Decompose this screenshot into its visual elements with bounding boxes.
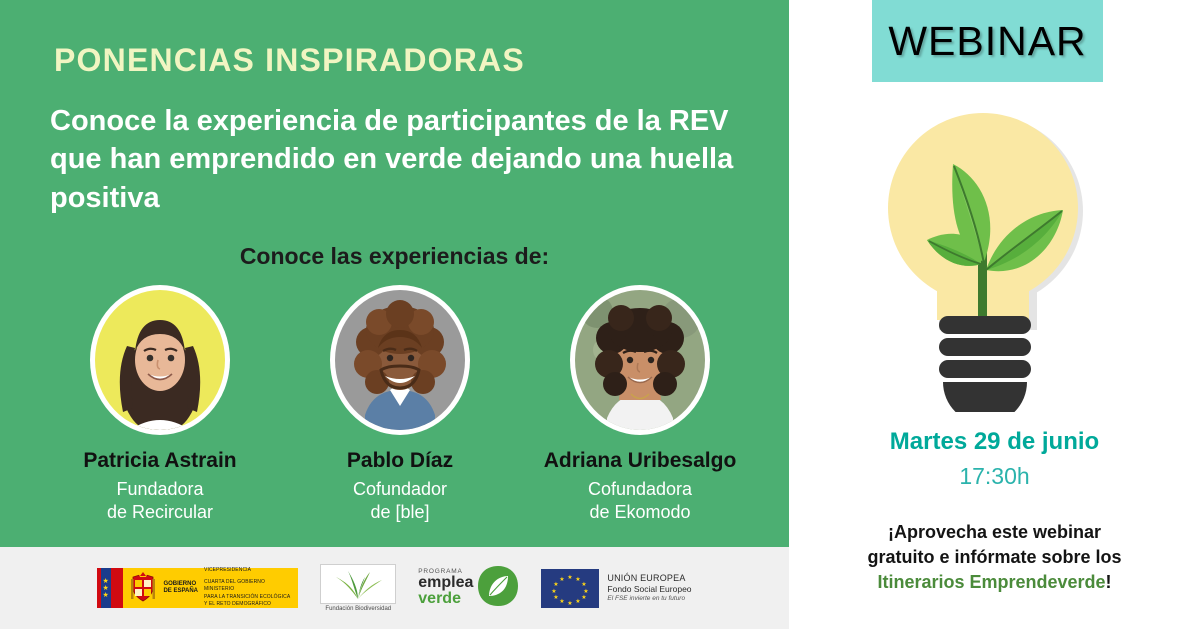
speaker-role-line1: Cofundadora <box>540 478 740 501</box>
union-europea-line: UNIÓN EUROPEA <box>607 572 691 584</box>
speaker-role-line2: de Recircular <box>60 501 260 524</box>
cta-highlight: Itinerarios Emprendeverde <box>877 572 1105 592</box>
speaker-role-line1: Fundadora <box>60 478 260 501</box>
webinar-poster: PONENCIAS INSPIRADORAS Conoce la experie… <box>0 0 1200 629</box>
event-date: Martes 29 de junio <box>789 428 1200 456</box>
event-time: 17:30h <box>789 463 1200 490</box>
star-icon: ★ <box>102 592 108 599</box>
logo-emplea-verde: PROGRAMA emplea verde <box>418 565 519 612</box>
page-title: Conoce la experiencia de participantes d… <box>50 102 740 217</box>
star-icon: ★ <box>102 578 108 585</box>
avatar <box>570 285 710 435</box>
svg-text:★: ★ <box>582 581 587 588</box>
vicepresidencia-line-2: CUARTA DEL GOBIERNO <box>204 579 290 587</box>
svg-text:★: ★ <box>576 576 581 583</box>
speaker-role-line2: de Ekomodo <box>540 501 740 524</box>
avatar <box>90 285 230 435</box>
sponsor-logo-bar: ★ ★ ★ GOBIERNO DE ESPAÑ <box>0 547 789 629</box>
svg-text:★: ★ <box>560 576 565 583</box>
speaker-photo-pablo-diaz <box>335 290 465 430</box>
svg-text:★: ★ <box>554 594 559 601</box>
vicepresidencia-line-1: VICEPRESIDENCIA <box>204 567 290 575</box>
leaf-icon <box>477 565 519 612</box>
speaker-photo-patricia-astrain <box>95 290 225 430</box>
speaker-card-adriana-uribesalgo: Adriana Uribesalgo Cofundadora de Ekomod… <box>540 285 740 524</box>
svg-text:★: ★ <box>560 598 565 605</box>
speaker-name: Pablo Díaz <box>300 449 500 473</box>
star-icon: ★ <box>102 585 108 592</box>
gobierno-line-2: DE ESPAÑA <box>163 588 198 596</box>
svg-text:★: ★ <box>568 600 573 607</box>
grass-icon <box>320 564 396 604</box>
logo-union-europea: ★ ★ ★ ★ ★ ★ ★ ★ ★ ★ ★ ★ UN <box>541 569 691 608</box>
cta-suffix: ! <box>1106 572 1112 592</box>
speaker-role-line1: Cofundador <box>300 478 500 501</box>
eu-flag-icon: ★ ★ ★ ★ ★ ★ ★ ★ ★ ★ ★ ★ <box>541 569 599 608</box>
ministerio-line-1: MINISTERIO <box>204 586 290 594</box>
verde-word: verde <box>418 591 473 608</box>
svg-text:★: ★ <box>582 594 587 601</box>
spain-flag-icon: ★ ★ ★ <box>101 568 123 608</box>
status-badge: WEBINAR <box>872 0 1103 82</box>
lightbulb-plant-icon <box>885 112 1085 412</box>
fundacion-biodiversidad-caption: Fundación Biodiversidad <box>320 606 396 612</box>
gobierno-line-1: GOBIERNO <box>163 581 198 589</box>
speaker-role: Fundadora de Recircular <box>60 478 260 524</box>
speaker-name: Adriana Uribesalgo <box>540 449 740 473</box>
svg-text:★: ★ <box>554 581 559 588</box>
spain-coat-of-arms-icon <box>123 568 163 608</box>
speakers-intro-label: Conoce las experiencias de: <box>0 243 789 270</box>
ministerio-label: VICEPRESIDENCIA CUARTA DEL GOBIERNO MINI… <box>204 568 298 608</box>
webinar-info-panel: WEBINAR <box>789 0 1200 629</box>
speaker-role-line2: de [ble] <box>300 501 500 524</box>
fse-slogan-line: El FSE invierte en tu futuro <box>607 595 691 604</box>
speaker-role: Cofundador de [ble] <box>300 478 500 524</box>
avatar <box>330 285 470 435</box>
gobierno-label: GOBIERNO DE ESPAÑA <box>163 568 204 608</box>
green-content-panel: PONENCIAS INSPIRADORAS Conoce la experie… <box>0 0 789 547</box>
eu-text: UNIÓN EUROPEA Fondo Social Europeo El FS… <box>607 572 691 604</box>
cta-line-2: gratuito e infórmate sobre los <box>867 547 1121 567</box>
speakers-list: Patricia Astrain Fundadora de Recircular <box>60 285 740 524</box>
speaker-name: Patricia Astrain <box>60 449 260 473</box>
svg-text:★: ★ <box>576 598 581 605</box>
emplea-verde-text: PROGRAMA emplea verde <box>418 568 473 608</box>
eyebrow-title: PONENCIAS INSPIRADORAS <box>54 42 525 79</box>
speaker-card-pablo-diaz: Pablo Díaz Cofundador de [ble] <box>300 285 500 524</box>
svg-text:★: ★ <box>552 588 557 595</box>
svg-text:★: ★ <box>568 574 573 581</box>
webinar-badge-label: WEBINAR <box>888 18 1086 65</box>
logo-gobierno-de-espana: ★ ★ ★ GOBIERNO DE ESPAÑ <box>97 568 298 608</box>
speaker-role: Cofundadora de Ekomodo <box>540 478 740 524</box>
cta-line-1: ¡Aprovecha este webinar <box>888 522 1101 542</box>
emplea-word: emplea <box>418 575 473 591</box>
logo-fundacion-biodiversidad: Fundación Biodiversidad <box>320 564 396 612</box>
ministerio-line-3: Y EL RETO DEMOGRÁFICO <box>204 601 290 609</box>
fondo-social-europeo-line: Fondo Social Europeo <box>607 584 691 595</box>
speaker-photo-adriana-uribesalgo <box>575 290 705 430</box>
cta-text: ¡Aprovecha este webinar gratuito e infór… <box>807 520 1182 594</box>
speaker-card-patricia-astrain: Patricia Astrain Fundadora de Recircular <box>60 285 260 524</box>
